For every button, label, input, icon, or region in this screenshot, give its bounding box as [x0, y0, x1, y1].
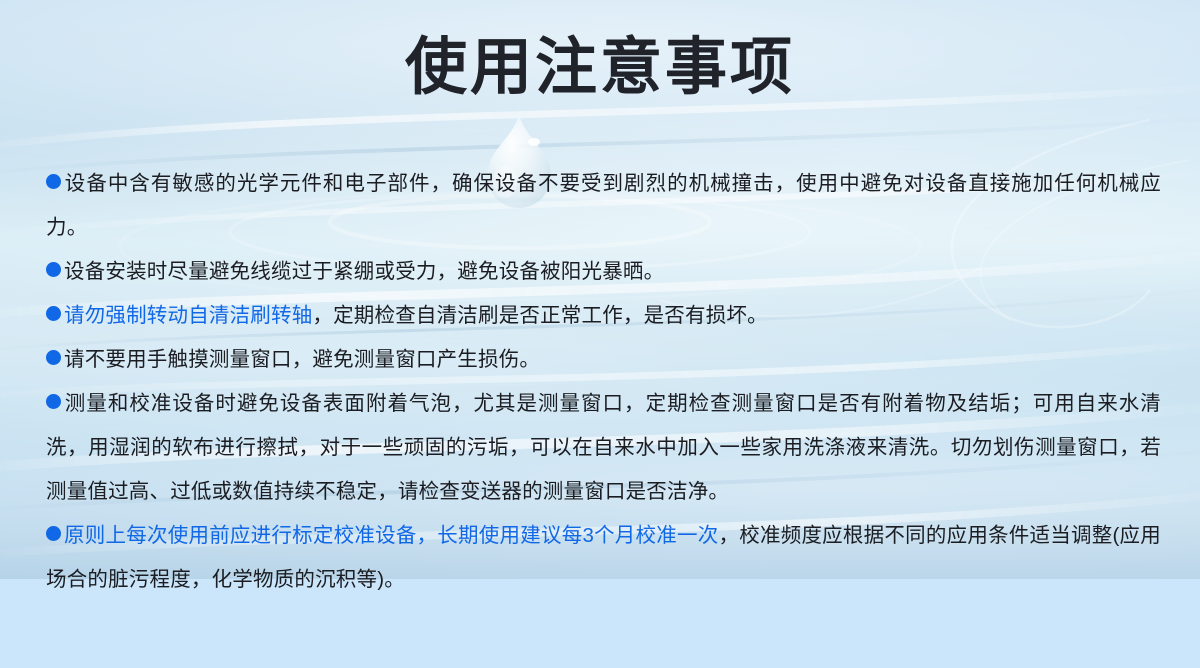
- bullet-icon: [46, 350, 61, 365]
- list-item: 测量和校准设备时避免设备表面附着气泡，尤其是测量窗口，定期检查测量窗口是否有附着…: [46, 382, 1161, 514]
- bullet-icon: [46, 262, 61, 277]
- bullet-icon: [46, 394, 61, 409]
- note-text-highlight: 请勿强制转动自清洁刷转轴: [64, 304, 312, 327]
- page-title: 使用注意事项: [0, 33, 1200, 101]
- note-text-highlight: 原则上每次使用前应进行标定校准设备，长期使用建议每3个月校准一次: [64, 524, 719, 547]
- notes-list: 设备中含有敏感的光学元件和电子部件，确保设备不要受到剧烈的机械撞击，使用中避免对…: [46, 162, 1161, 602]
- list-item: 请勿强制转动自清洁刷转轴，定期检查自清洁刷是否正常工作，是否有损坏。: [46, 294, 1161, 338]
- list-item: 原则上每次使用前应进行标定校准设备，长期使用建议每3个月校准一次，校准频度应根据…: [46, 514, 1161, 602]
- list-item: 请不要用手触摸测量窗口，避免测量窗口产生损伤。: [46, 338, 1161, 382]
- note-text: ，定期检查自清洁刷是否正常工作，是否有损坏。: [312, 304, 767, 327]
- note-text: 设备中含有敏感的光学元件和电子部件，确保设备不要受到剧烈的机械撞击，使用中避免对…: [46, 172, 1161, 239]
- note-text: 测量和校准设备时避免设备表面附着气泡，尤其是测量窗口，定期检查测量窗口是否有附着…: [46, 392, 1161, 503]
- slide-content: 使用注意事项 设备中含有敏感的光学元件和电子部件，确保设备不要受到剧烈的机械撞击…: [0, 0, 1200, 668]
- slide-canvas: 使用注意事项 设备中含有敏感的光学元件和电子部件，确保设备不要受到剧烈的机械撞击…: [0, 0, 1200, 668]
- list-item: 设备中含有敏感的光学元件和电子部件，确保设备不要受到剧烈的机械撞击，使用中避免对…: [46, 162, 1161, 250]
- note-text: 请不要用手触摸测量窗口，避免测量窗口产生损伤。: [64, 348, 540, 371]
- bullet-icon: [46, 306, 61, 321]
- list-item: 设备安装时尽量避免线缆过于紧绷或受力，避免设备被阳光暴晒。: [46, 250, 1161, 294]
- bullet-icon: [46, 526, 61, 541]
- note-text: 设备安装时尽量避免线缆过于紧绷或受力，避免设备被阳光暴晒。: [64, 260, 664, 283]
- bullet-icon: [46, 174, 61, 189]
